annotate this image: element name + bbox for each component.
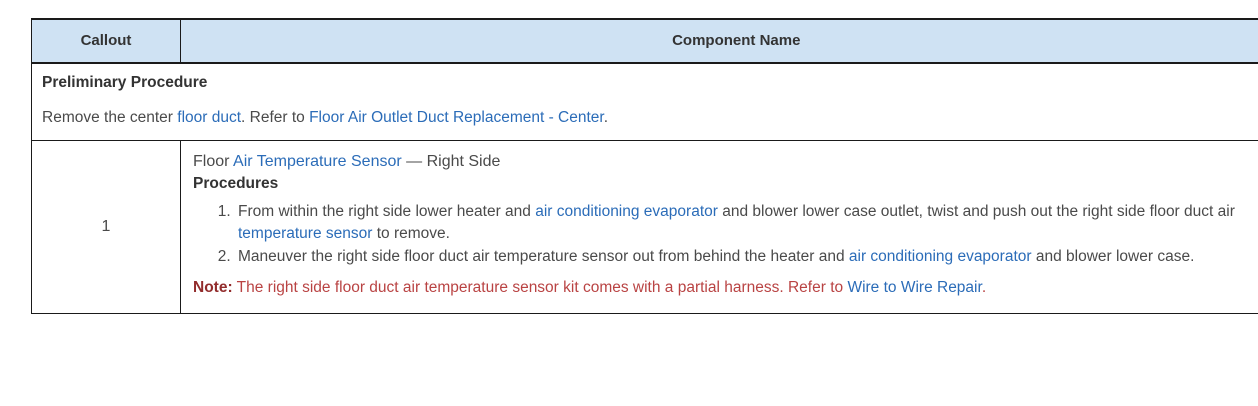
- preliminary-procedure-title-cell: Preliminary Procedure: [32, 63, 1258, 103]
- link-temperature-sensor-step1[interactable]: temperature sensor: [238, 225, 372, 242]
- component-detail-cell: Floor Air Temperature Sensor — Right Sid…: [181, 140, 1258, 313]
- preliminary-title-row: Preliminary Procedure: [32, 63, 1258, 103]
- note-callout: Note: The right side floor duct air temp…: [193, 277, 1258, 299]
- column-header-component-name: Component Name: [181, 19, 1258, 63]
- link-floor-air-outlet-duct-replacement-center[interactable]: Floor Air Outlet Duct Replacement - Cent…: [309, 109, 604, 126]
- table-body: Preliminary Procedure Remove the center …: [32, 63, 1258, 314]
- note-text-after-link: .: [982, 279, 986, 296]
- preliminary-text-segment-1: Remove the center: [42, 109, 177, 126]
- preliminary-text-row: Remove the center floor duct. Refer to F…: [32, 103, 1258, 140]
- step-1-text-segment-1: From within the right side lower heater …: [238, 203, 535, 220]
- preliminary-text-segment-3: .: [604, 109, 608, 126]
- link-air-temperature-sensor[interactable]: Air Temperature Sensor: [233, 153, 402, 170]
- procedures-label: Procedures: [193, 174, 1258, 195]
- column-header-callout: Callout: [32, 19, 181, 63]
- step-2-text-segment-1: Maneuver the right side floor duct air t…: [238, 248, 849, 265]
- note-text-before-link: The right side floor duct air temperatur…: [233, 279, 848, 296]
- link-wire-to-wire-repair[interactable]: Wire to Wire Repair: [847, 279, 981, 296]
- table-row: 1 Floor Air Temperature Sensor — Right S…: [32, 140, 1258, 313]
- table-header: Callout Component Name: [32, 19, 1258, 63]
- step-1-text-segment-3: to remove.: [372, 225, 450, 242]
- link-floor-duct[interactable]: floor duct: [177, 109, 241, 126]
- preliminary-procedure-title: Preliminary Procedure: [42, 74, 207, 91]
- list-item: Maneuver the right side floor duct air t…: [235, 246, 1258, 268]
- component-heading-suffix: — Right Side: [402, 153, 501, 170]
- procedure-page: Callout Component Name Preliminary Proce…: [0, 0, 1258, 406]
- component-heading-prefix: Floor: [193, 153, 233, 170]
- link-air-conditioning-evaporator-step2[interactable]: air conditioning evaporator: [849, 248, 1032, 265]
- step-2-text-segment-2: and blower lower case.: [1032, 248, 1195, 265]
- preliminary-text-segment-2: . Refer to: [241, 109, 309, 126]
- service-procedure-table: Callout Component Name Preliminary Proce…: [31, 18, 1258, 314]
- list-item: From within the right side lower heater …: [235, 201, 1258, 245]
- procedure-steps-list: From within the right side lower heater …: [193, 201, 1258, 268]
- header-row: Callout Component Name: [32, 19, 1258, 63]
- preliminary-instruction: Remove the center floor duct. Refer to F…: [42, 109, 608, 126]
- note-label: Note:: [193, 279, 233, 296]
- preliminary-procedure-text-cell: Remove the center floor duct. Refer to F…: [32, 103, 1258, 140]
- component-heading: Floor Air Temperature Sensor — Right Sid…: [193, 151, 1258, 173]
- callout-number-cell: 1: [32, 140, 181, 313]
- link-air-conditioning-evaporator-step1[interactable]: air conditioning evaporator: [535, 203, 718, 220]
- step-1-text-segment-2: and blower lower case outlet, twist and …: [718, 203, 1235, 220]
